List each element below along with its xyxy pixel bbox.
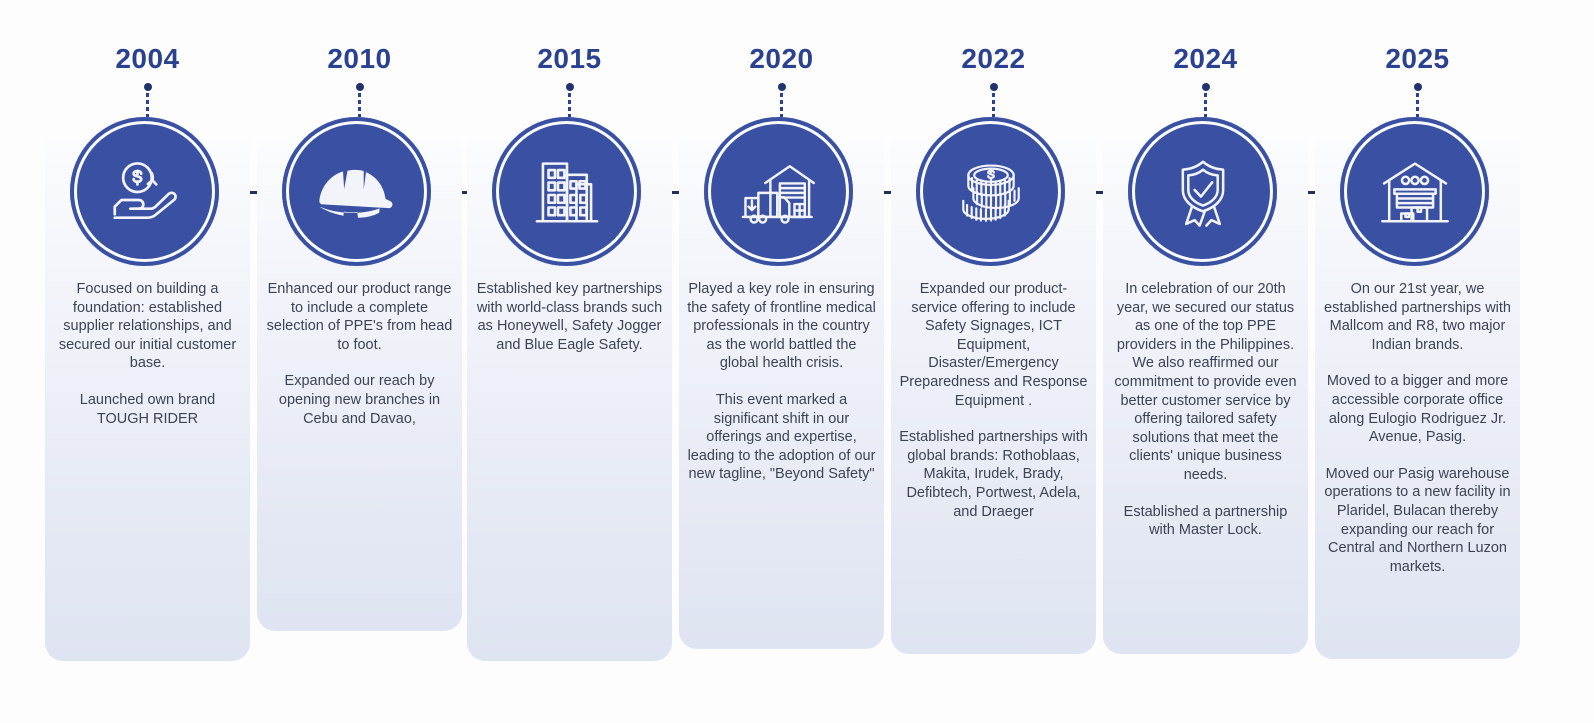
year-marker-dot [778, 83, 786, 91]
delivery-truck-warehouse-icon [736, 149, 822, 235]
milestone-2022: 2022 Expanded our product-service offeri… [891, 0, 1096, 723]
shield-check-award-icon [1161, 150, 1245, 234]
year-label: 2022 [891, 43, 1096, 75]
milestone-description: Enhanced our product range to include a … [265, 280, 454, 428]
milestone-2015: 2015 Established key partnerships with w… [467, 0, 672, 723]
description-paragraph: On our 21st year, we established partner… [1323, 280, 1512, 354]
year-marker-dot [144, 83, 152, 91]
company-timeline-infographic: 2004 Focused on building a foundation: e… [0, 0, 1594, 723]
milestone-description: On our 21st year, we established partner… [1323, 280, 1512, 576]
description-paragraph: Launched own brand TOUGH RIDER [53, 391, 242, 428]
year-marker-dot [1414, 83, 1422, 91]
year-label: 2015 [467, 43, 672, 75]
description-paragraph: Established a partnership with Master Lo… [1111, 503, 1300, 540]
milestone-2004: 2004 Focused on building a foundation: e… [45, 0, 250, 723]
description-paragraph: Established key partnerships with world-… [475, 280, 664, 354]
year-marker-dot [990, 83, 998, 91]
milestone-description: Established key partnerships with world-… [475, 280, 664, 354]
year-label: 2020 [679, 43, 884, 75]
year-marker-dot [356, 83, 364, 91]
milestone-2025: 2025 On our 21st year, we established pa… [1315, 0, 1520, 723]
year-marker-dot [566, 83, 574, 91]
hand-holding-money-icon [103, 150, 187, 234]
milestone-2010: 2010 Enhanced our product range to inclu… [257, 0, 462, 723]
milestone-icon-badge[interactable] [282, 117, 431, 266]
description-paragraph: Expanded our product-service offering to… [899, 280, 1088, 410]
description-paragraph: In celebration of our 20th year, we secu… [1111, 280, 1300, 485]
year-label: 2004 [45, 43, 250, 75]
description-paragraph: Played a key role in ensuring the safety… [687, 280, 876, 373]
milestone-icon-badge[interactable] [492, 117, 641, 266]
description-paragraph: Established partnerships with global bra… [899, 428, 1088, 521]
description-paragraph: Focused on building a foundation: establ… [53, 280, 242, 373]
milestone-icon-badge[interactable] [704, 117, 853, 266]
milestone-2020: 2020 Played a key role in ensuring the s… [679, 0, 884, 723]
milestone-icon-badge[interactable] [1340, 117, 1489, 266]
hard-hat-icon [311, 146, 403, 238]
year-label: 2024 [1103, 43, 1308, 75]
milestone-description: Focused on building a foundation: establ… [53, 280, 242, 428]
description-paragraph: Expanded our reach by opening new branch… [265, 372, 454, 428]
description-paragraph: Moved to a bigger and more accessible co… [1323, 372, 1512, 446]
stacked-coins-icon [949, 150, 1033, 234]
office-buildings-icon [524, 149, 610, 235]
description-paragraph: Moved our Pasig warehouse operations to … [1323, 465, 1512, 577]
milestone-2024: 2024 In celebration of our 20th year, we… [1103, 0, 1308, 723]
description-paragraph: This event marked a significant shift in… [687, 391, 876, 484]
milestone-icon-badge[interactable] [70, 117, 219, 266]
milestone-description: Played a key role in ensuring the safety… [687, 280, 876, 484]
description-paragraph: Enhanced our product range to include a … [265, 280, 454, 354]
year-label: 2010 [257, 43, 462, 75]
year-label: 2025 [1315, 43, 1520, 75]
year-marker-dot [1202, 83, 1210, 91]
milestone-icon-badge[interactable] [1128, 117, 1277, 266]
milestone-description: Expanded our product-service offering to… [899, 280, 1088, 521]
milestone-description: In celebration of our 20th year, we secu… [1111, 280, 1300, 540]
milestone-icon-badge[interactable] [916, 117, 1065, 266]
warehouse-storage-icon [1372, 149, 1458, 235]
